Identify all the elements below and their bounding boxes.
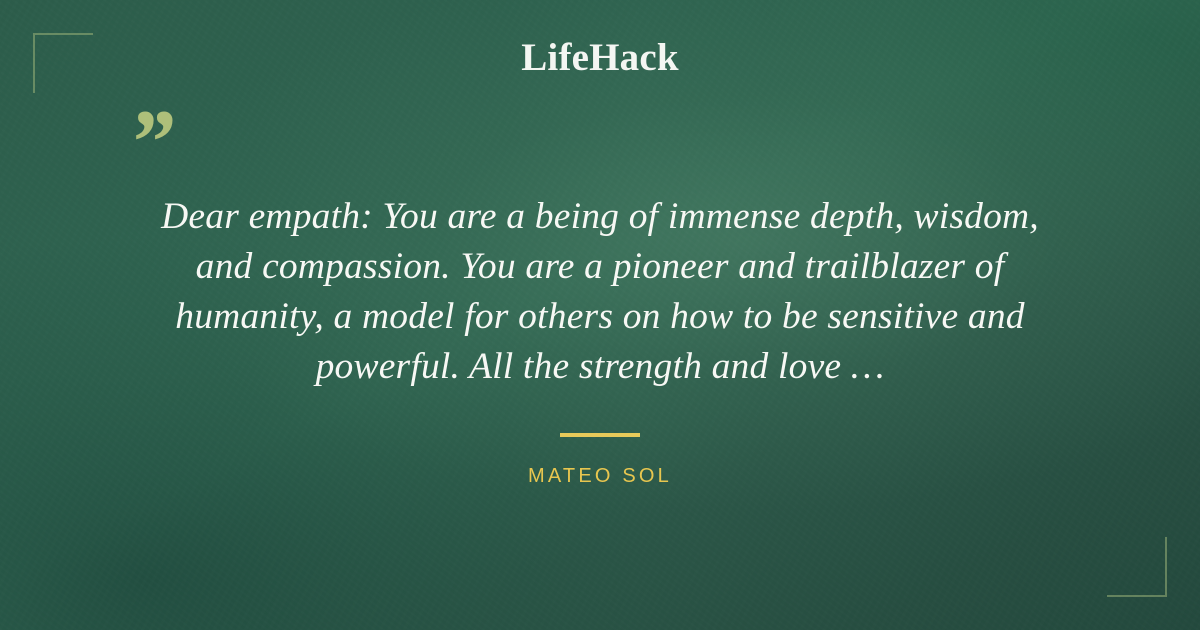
quote-line: humanity, a model for others on how to b…	[60, 292, 1140, 342]
attribution-divider	[560, 433, 640, 437]
quote-line: powerful. All the strength and love …	[60, 342, 1140, 392]
brand-logo: LifeHack	[0, 38, 1200, 77]
corner-bracket-bottom-right-icon	[1107, 537, 1167, 597]
author-name: MATEO SOL	[0, 464, 1200, 488]
quotation-mark-icon: ”	[128, 96, 174, 188]
quote-text: Dear empath: You are a being of immense …	[60, 192, 1140, 392]
quote-line: and compassion. You are a pioneer and tr…	[60, 242, 1140, 292]
quote-line: Dear empath: You are a being of immense …	[60, 192, 1140, 242]
quote-card: LifeHack ” Dear empath: You are a being …	[0, 0, 1200, 630]
